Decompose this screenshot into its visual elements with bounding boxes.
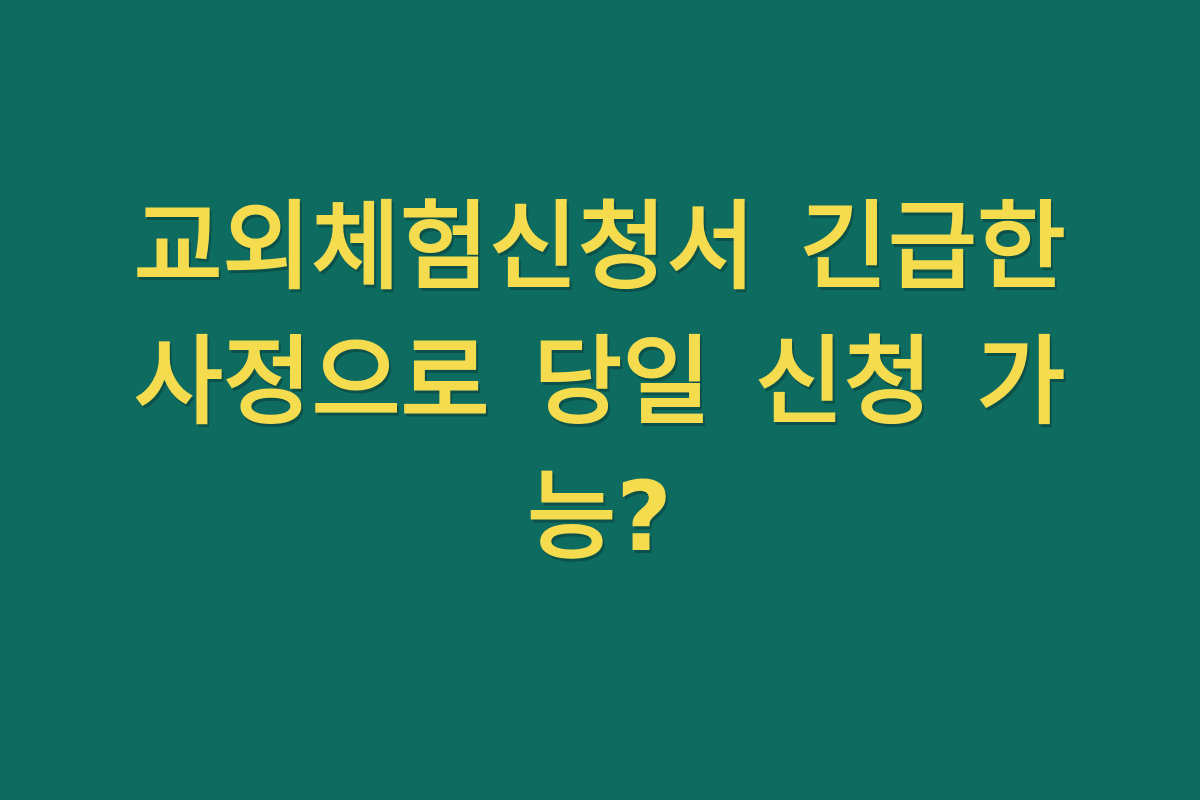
headline-block: 교외체험신청서 긴급한 사정으로 당일 신청 가능? (70, 180, 1130, 585)
poster-canvas: 교외체험신청서 긴급한 사정으로 당일 신청 가능? (0, 0, 1200, 800)
poster-headline: 교외체험신청서 긴급한 사정으로 당일 신청 가능? (70, 180, 1130, 585)
